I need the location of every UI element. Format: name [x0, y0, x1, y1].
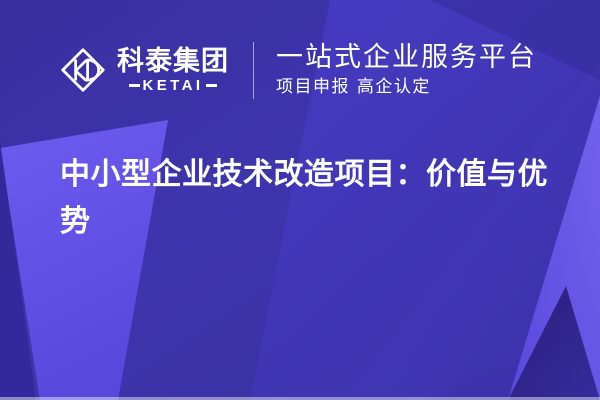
tagline-primary: 一站式企业服务平台 [276, 42, 537, 73]
tagline-secondary: 项目申报 高企认定 [276, 78, 537, 98]
ketai-diamond-k-logo-icon [60, 47, 106, 93]
page-title: 中小型企业技术改造项目：价值与优势 [60, 152, 560, 245]
logo-latin-name: KETAI [143, 78, 204, 93]
promotional-banner: 科泰集团 KETAI 一站式企业服务平台 项目申报 高企认定 中小型企业技术改造… [0, 0, 600, 400]
logo-wordmark: 科泰集团 KETAI [117, 48, 229, 93]
logo-latin-row: KETAI [117, 78, 229, 93]
vertical-divider [253, 42, 254, 99]
logo-right-dash [206, 84, 217, 87]
banner-header: 科泰集团 KETAI 一站式企业服务平台 项目申报 高企认定 [0, 32, 600, 108]
logo-left-dash [129, 84, 140, 87]
logo-chinese-name: 科泰集团 [117, 48, 229, 75]
brand-logo[interactable]: 科泰集团 KETAI [60, 47, 229, 93]
tagline-block: 一站式企业服务平台 项目申报 高企认定 [276, 42, 537, 98]
